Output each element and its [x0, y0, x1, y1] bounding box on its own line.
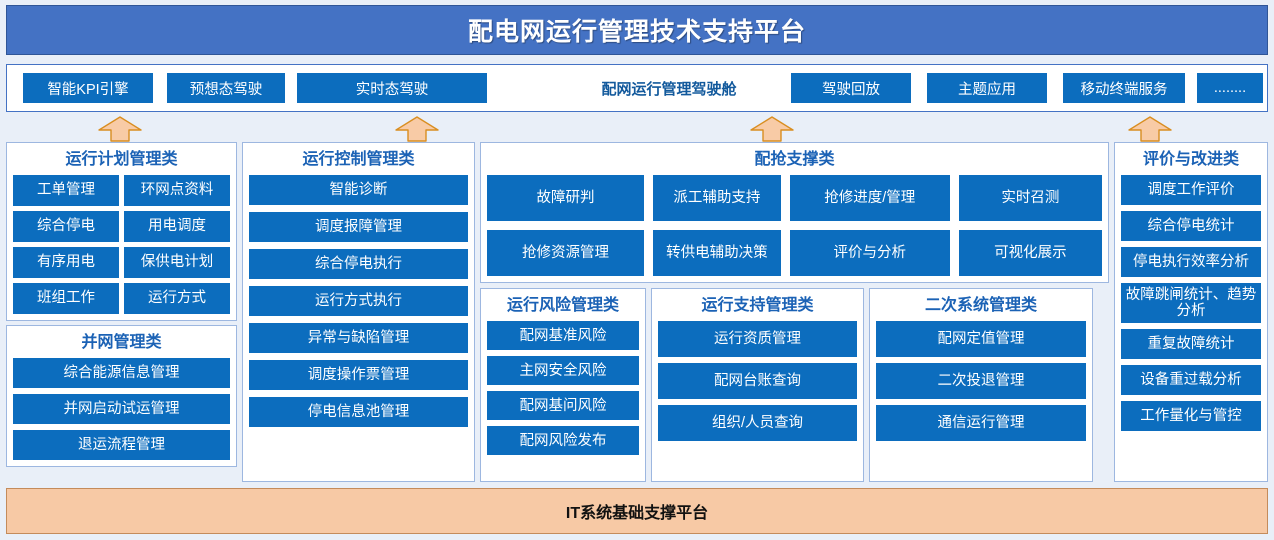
operation-control-tile[interactable]: 停电信息池管理: [249, 397, 468, 427]
panel-title-emergency-support: 配抢支撑类: [487, 148, 1102, 171]
evaluation-improvement-tile[interactable]: 停电执行效率分析: [1121, 247, 1261, 277]
emergency-support-tile[interactable]: 可视化展示: [959, 230, 1102, 276]
panel-title-evaluation-improvement: 评价与改进类: [1121, 148, 1261, 171]
emergency-support-tile[interactable]: 抢修进度/管理: [790, 175, 950, 221]
column-plan: 运行计划管理类 工单管理环网点资料综合停电用电调度有序用电保供电计划班组工作运行…: [6, 142, 237, 482]
panel-operation-support: 运行支持管理类 运行资质管理配网台账查询组织/人员查询: [651, 288, 864, 482]
column-center: 配抢支撑类 故障研判派工辅助支持抢修进度/管理实时召测抢修资源管理转供电辅助决策…: [480, 142, 1109, 482]
tile-stack-operation-support: 运行资质管理配网台账查询组织/人员查询: [658, 321, 857, 441]
sub-panel-row: 运行风险管理类 配网基准风险主网安全风险配网基问风险配网风险发布 运行支持管理类…: [480, 288, 1109, 482]
operation-control-tile[interactable]: 运行方式执行: [249, 286, 468, 316]
page-title: 配电网运行管理技术支持平台: [468, 12, 806, 48]
operation-support-tile[interactable]: 组织/人员查询: [658, 405, 857, 441]
secondary-system-tile[interactable]: 二次投退管理: [876, 363, 1086, 399]
evaluation-improvement-tile[interactable]: 调度工作评价: [1121, 175, 1261, 205]
emergency-support-tile[interactable]: 故障研判: [487, 175, 644, 221]
panel-operation-plan: 运行计划管理类 工单管理环网点资料综合停电用电调度有序用电保供电计划班组工作运行…: [6, 142, 237, 321]
emergency-support-tile[interactable]: 抢修资源管理: [487, 230, 644, 276]
panel-grid-connection: 并网管理类 综合能源信息管理并网启动试运管理退运流程管理: [6, 325, 237, 467]
operation-plan-tile[interactable]: 保供电计划: [124, 247, 230, 278]
nav-button-5[interactable]: 主题应用: [927, 73, 1047, 103]
operation-plan-tile[interactable]: 运行方式: [124, 283, 230, 314]
nav-bar: 智能KPI引擎预想态驾驶实时态驾驶驾驶回放主题应用移动终端服务........配…: [6, 64, 1268, 112]
grid-connection-tile[interactable]: 综合能源信息管理: [13, 358, 230, 388]
up-arrow-icon-4: [1128, 116, 1172, 142]
panel-title-grid-connection: 并网管理类: [13, 331, 230, 354]
operation-risk-tile[interactable]: 配网风险发布: [487, 426, 639, 455]
nav-button-2[interactable]: 预想态驾驶: [167, 73, 285, 103]
secondary-system-tile[interactable]: 配网定值管理: [876, 321, 1086, 357]
operation-plan-tile[interactable]: 用电调度: [124, 211, 230, 242]
emergency-support-tile[interactable]: 评价与分析: [790, 230, 950, 276]
panel-title-operation-support: 运行支持管理类: [658, 294, 857, 317]
operation-plan-tile[interactable]: 综合停电: [13, 211, 119, 242]
tile-grid-operation-plan: 工单管理环网点资料综合停电用电调度有序用电保供电计划班组工作运行方式: [13, 175, 230, 314]
nav-button-3[interactable]: 实时态驾驶: [297, 73, 487, 103]
operation-plan-tile[interactable]: 工单管理: [13, 175, 119, 206]
operation-control-tile[interactable]: 异常与缺陷管理: [249, 323, 468, 353]
main-content-area: 运行计划管理类 工单管理环网点资料综合停电用电调度有序用电保供电计划班组工作运行…: [6, 142, 1268, 482]
panel-operation-risk: 运行风险管理类 配网基准风险主网安全风险配网基问风险配网风险发布: [480, 288, 646, 482]
grid-connection-tile[interactable]: 并网启动试运管理: [13, 394, 230, 424]
evaluation-improvement-tile[interactable]: 综合停电统计: [1121, 211, 1261, 241]
operation-risk-tile[interactable]: 配网基问风险: [487, 391, 639, 420]
panel-secondary-system: 二次系统管理类 配网定值管理二次投退管理通信运行管理: [869, 288, 1093, 482]
operation-plan-tile[interactable]: 环网点资料: [124, 175, 230, 206]
evaluation-improvement-tile[interactable]: 设备重过载分析: [1121, 365, 1261, 395]
panel-title-secondary-system: 二次系统管理类: [876, 294, 1086, 317]
panel-emergency-support: 配抢支撑类 故障研判派工辅助支持抢修进度/管理实时召测抢修资源管理转供电辅助决策…: [480, 142, 1109, 283]
grid-connection-tile[interactable]: 退运流程管理: [13, 430, 230, 460]
emergency-support-tile[interactable]: 派工辅助支持: [653, 175, 781, 221]
panel-evaluation-improvement: 评价与改进类 调度工作评价综合停电统计停电执行效率分析故障跳闸统计、趋势分析重复…: [1114, 142, 1268, 482]
operation-control-tile[interactable]: 智能诊断: [249, 175, 468, 205]
footer-label: IT系统基础支撑平台: [566, 499, 708, 523]
nav-button-1[interactable]: 智能KPI引擎: [23, 73, 153, 103]
operation-risk-tile[interactable]: 主网安全风险: [487, 356, 639, 385]
up-arrow-icon-2: [395, 116, 439, 142]
tile-grid-emergency-support: 故障研判派工辅助支持抢修进度/管理实时召测抢修资源管理转供电辅助决策评价与分析可…: [487, 175, 1102, 276]
footer-platform-bar: IT系统基础支撑平台: [6, 488, 1268, 534]
operation-support-tile[interactable]: 配网台账查询: [658, 363, 857, 399]
evaluation-improvement-tile[interactable]: 工作量化与管控: [1121, 401, 1261, 431]
emergency-support-tile[interactable]: 转供电辅助决策: [653, 230, 781, 276]
tile-stack-evaluation-improvement: 调度工作评价综合停电统计停电执行效率分析故障跳闸统计、趋势分析重复故障统计设备重…: [1121, 175, 1261, 431]
panel-title-operation-control: 运行控制管理类: [249, 148, 468, 171]
up-arrow-icon-3: [750, 116, 794, 142]
emergency-support-tile[interactable]: 实时召测: [959, 175, 1102, 221]
operation-plan-tile[interactable]: 有序用电: [13, 247, 119, 278]
tile-stack-grid-connection: 综合能源信息管理并网启动试运管理退运流程管理: [13, 358, 230, 460]
nav-center-label: 配网运行管理驾驶舱: [563, 73, 775, 103]
panel-operation-control: 运行控制管理类 智能诊断调度报障管理综合停电执行运行方式执行异常与缺陷管理调度操…: [242, 142, 475, 482]
panel-title-operation-plan: 运行计划管理类: [13, 148, 230, 171]
tile-stack-secondary-system: 配网定值管理二次投退管理通信运行管理: [876, 321, 1086, 441]
nav-button-6[interactable]: 移动终端服务: [1063, 73, 1185, 103]
operation-support-tile[interactable]: 运行资质管理: [658, 321, 857, 357]
operation-plan-tile[interactable]: 班组工作: [13, 283, 119, 314]
operation-control-tile[interactable]: 调度操作票管理: [249, 360, 468, 390]
nav-button-7[interactable]: ........: [1197, 73, 1263, 103]
panel-title-operation-risk: 运行风险管理类: [487, 294, 639, 317]
up-arrow-icon-1: [98, 116, 142, 142]
tile-stack-operation-control: 智能诊断调度报障管理综合停电执行运行方式执行异常与缺陷管理调度操作票管理停电信息…: [249, 175, 468, 427]
secondary-system-tile[interactable]: 通信运行管理: [876, 405, 1086, 441]
evaluation-improvement-tile[interactable]: 故障跳闸统计、趋势分析: [1121, 283, 1261, 323]
nav-button-4[interactable]: 驾驶回放: [791, 73, 911, 103]
tile-stack-operation-risk: 配网基准风险主网安全风险配网基问风险配网风险发布: [487, 321, 639, 455]
operation-risk-tile[interactable]: 配网基准风险: [487, 321, 639, 350]
operation-control-tile[interactable]: 调度报障管理: [249, 212, 468, 242]
operation-control-tile[interactable]: 综合停电执行: [249, 249, 468, 279]
evaluation-improvement-tile[interactable]: 重复故障统计: [1121, 329, 1261, 359]
app-header: 配电网运行管理技术支持平台: [6, 5, 1268, 55]
